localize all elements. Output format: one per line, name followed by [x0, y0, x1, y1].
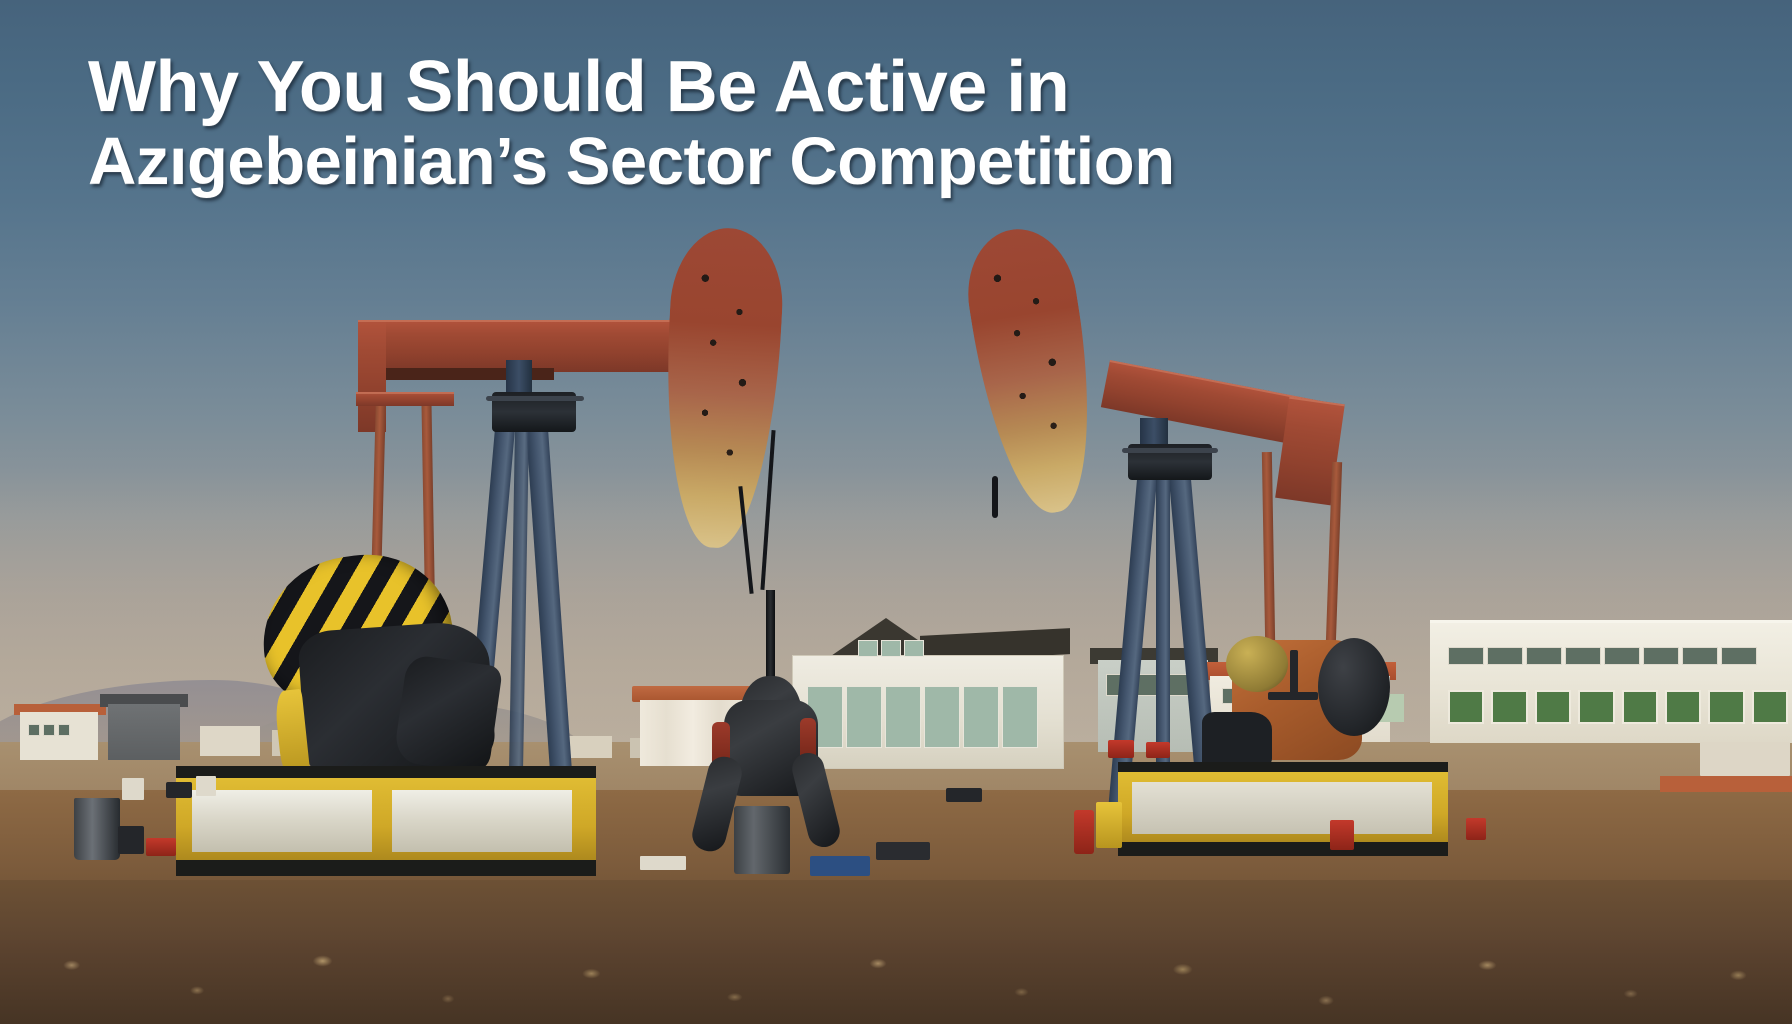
right-saddle-bearing	[1122, 448, 1218, 453]
foreground-dark-block	[166, 782, 192, 798]
foreground-dark-box	[118, 826, 144, 854]
window	[1487, 647, 1523, 665]
small-dark-debris	[946, 788, 982, 802]
right-crank-pin-horizontal	[1268, 692, 1318, 700]
far-left-shed	[20, 712, 98, 760]
red-marker-a	[1108, 740, 1134, 758]
left-skid-bottom-rail	[176, 860, 596, 876]
dark-pipe-foreground	[876, 842, 930, 860]
red-marker-c	[1330, 820, 1354, 850]
right-crank-pin-vertical	[1290, 650, 1298, 698]
window	[881, 640, 901, 657]
right-skid-panel	[1132, 782, 1432, 834]
window	[858, 640, 878, 657]
green-window	[1708, 690, 1744, 724]
title-line-1: Why You Should Be Active in	[88, 48, 1408, 126]
foreground-white-pipe-2	[196, 776, 216, 796]
red-cylinder-left	[1074, 810, 1094, 854]
wellhead-drum	[734, 806, 790, 874]
green-window-row	[1448, 690, 1788, 724]
right-counterweight-a	[1318, 638, 1390, 736]
window	[1682, 647, 1718, 665]
banner-image: Why You Should Be Active in Azıgebeinian…	[0, 0, 1792, 1024]
left-equalizer-bar	[356, 392, 454, 406]
window	[885, 686, 921, 748]
green-window	[1622, 690, 1658, 724]
right-building-awning	[1660, 776, 1792, 792]
right-building-base	[1700, 742, 1790, 776]
window	[28, 724, 40, 736]
green-window	[1752, 690, 1788, 724]
right-skid-bottom-rail	[1118, 842, 1448, 856]
left-skid-panel-b	[392, 790, 572, 852]
left-skid-panel-a	[192, 790, 372, 852]
red-marker-b	[1146, 742, 1170, 758]
green-window	[1535, 690, 1571, 724]
window	[1604, 647, 1640, 665]
window	[904, 640, 924, 657]
window	[1565, 647, 1601, 665]
banner-title: Why You Should Be Active in Azıgebeinian…	[88, 48, 1408, 198]
blue-object-foreground	[810, 856, 870, 876]
green-window	[1578, 690, 1614, 724]
gable-attic-windows	[858, 640, 924, 657]
green-window	[1665, 690, 1701, 724]
window	[1002, 686, 1038, 748]
tiny-building-a	[200, 726, 260, 756]
window	[924, 686, 960, 748]
right-counterweight-b	[1226, 636, 1288, 692]
foreground-red-object	[146, 838, 176, 856]
long-white-building-green-windows	[1430, 620, 1792, 743]
green-window	[1491, 690, 1527, 724]
left-walking-beam	[358, 320, 708, 372]
window	[846, 686, 882, 748]
window	[1448, 647, 1484, 665]
red-marker-d	[1466, 818, 1486, 840]
white-debris	[640, 856, 686, 870]
foreground-white-pipe	[122, 778, 144, 800]
left-crank-arm	[393, 654, 503, 774]
window	[1721, 647, 1757, 665]
yellow-box-right	[1096, 802, 1122, 848]
foreground-bucket	[74, 798, 120, 860]
dark-shed	[108, 704, 180, 760]
left-saddle-bearing	[486, 396, 584, 401]
window	[43, 724, 55, 736]
window	[58, 724, 70, 736]
gabled-white-building	[792, 655, 1064, 769]
window	[1526, 647, 1562, 665]
title-line-2: Azıgebeinian’s Sector Competition	[88, 126, 1408, 198]
gravel-foreground	[0, 940, 1792, 1024]
window	[1643, 647, 1679, 665]
window	[963, 686, 999, 748]
green-window	[1448, 690, 1484, 724]
right-bridle-hook	[992, 476, 998, 518]
